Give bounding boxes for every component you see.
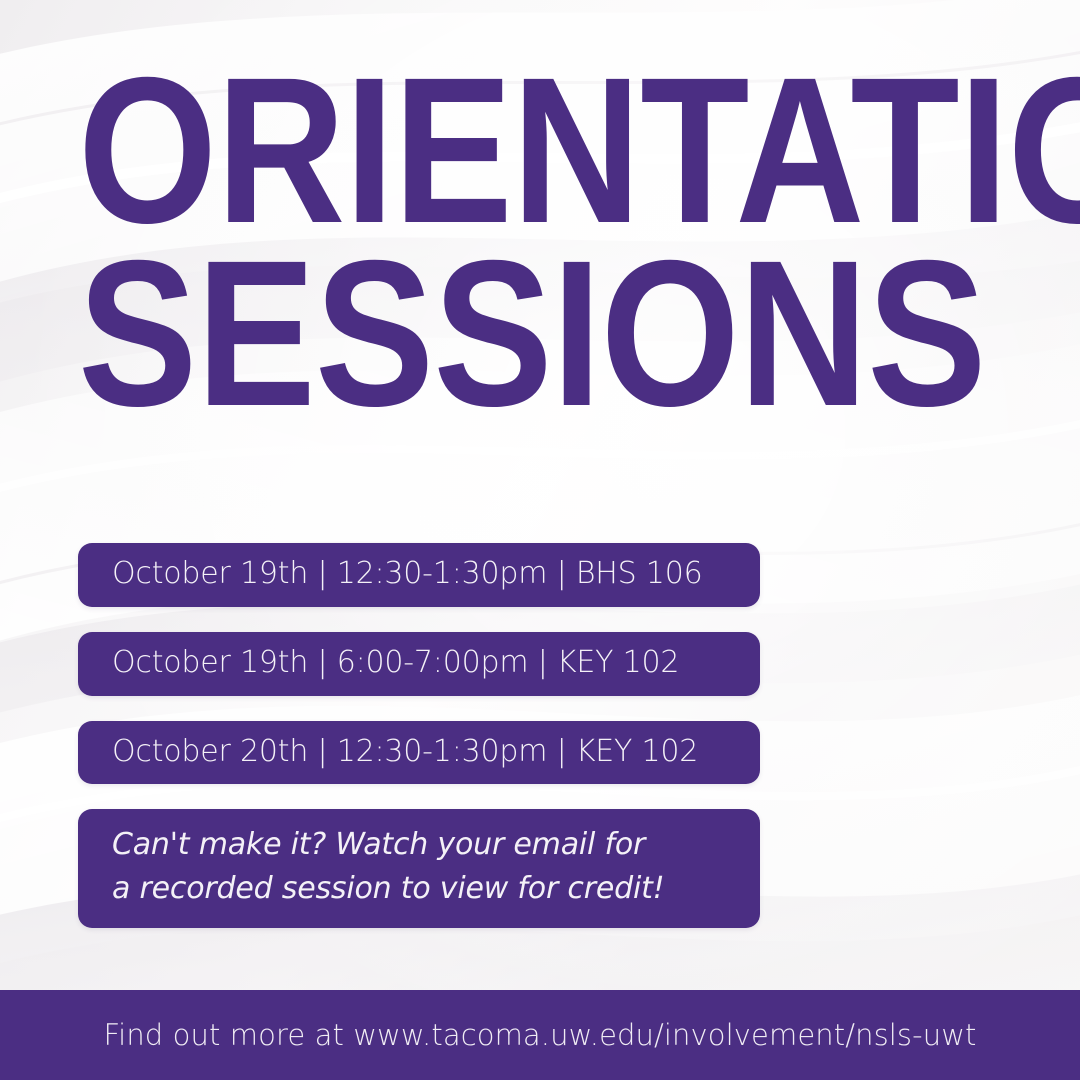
flyer-canvas: ORIENTATION SESSIONS October 19th | 12:3… <box>0 0 1080 1080</box>
session-item: October 19th | 6:00-7:00pm | KEY 102 <box>78 632 760 696</box>
footer-bar: Find out more at www.tacoma.uw.edu/invol… <box>0 990 1080 1080</box>
session-details: October 19th | 12:30-1:30pm | BHS 106 <box>112 555 760 593</box>
recorded-session-note-text: Can't make it? Watch your email for a re… <box>112 823 672 909</box>
page-title: ORIENTATION SESSIONS <box>78 62 1018 424</box>
recorded-session-note: Can't make it? Watch your email for a re… <box>78 809 760 927</box>
title-line-orientation: ORIENTATION <box>78 62 886 241</box>
session-item: October 19th | 12:30-1:30pm | BHS 106 <box>78 543 760 607</box>
session-details: October 20th | 12:30-1:30pm | KEY 102 <box>112 733 760 771</box>
session-list: October 19th | 12:30-1:30pm | BHS 106 Oc… <box>78 543 760 928</box>
footer-website-text: Find out more at www.tacoma.uw.edu/invol… <box>104 1018 977 1052</box>
title-line-sessions: SESSIONS <box>78 245 886 424</box>
session-item: October 20th | 12:30-1:30pm | KEY 102 <box>78 721 760 785</box>
session-details: October 19th | 6:00-7:00pm | KEY 102 <box>112 644 760 682</box>
